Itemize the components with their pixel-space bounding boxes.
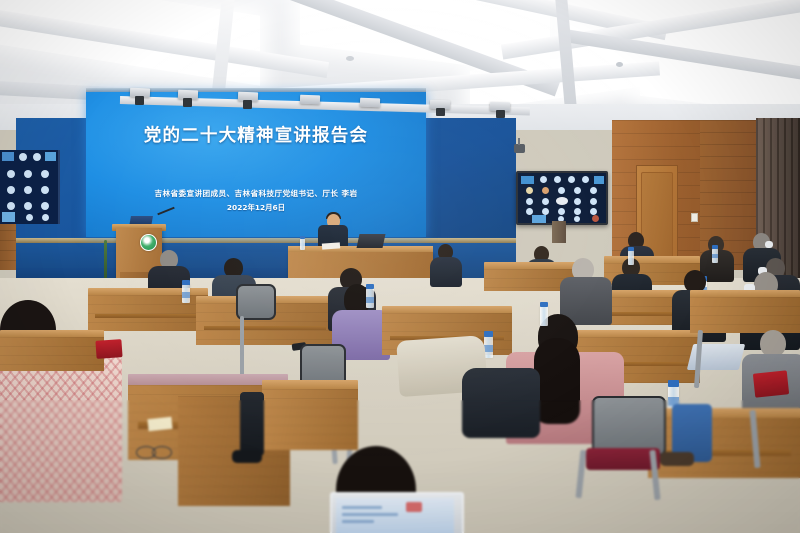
bottle-cap: [712, 245, 718, 249]
spotlight-lens: [496, 110, 505, 118]
spotlight-lens: [135, 96, 144, 105]
desk-shelf: [204, 326, 325, 330]
spotlight: [360, 98, 380, 108]
video-conference-monitor-right[interactable]: [516, 171, 608, 225]
jacket-on-chair: [462, 368, 540, 438]
desk-front: [88, 295, 208, 331]
desk: [0, 330, 104, 374]
participant-tile-active: [2, 212, 15, 222]
bottle-cap: [484, 331, 493, 337]
attendee-legs: [240, 392, 264, 456]
bottle-cap: [300, 236, 305, 239]
attendee-head: [760, 330, 786, 357]
spotlight-lens: [183, 98, 192, 107]
participant-tile-active: [45, 152, 56, 161]
bottle-label: [712, 254, 718, 258]
desk-front: [0, 337, 104, 371]
participant-tile: [542, 208, 549, 215]
bottle-label: [484, 345, 493, 352]
participant-tile: [558, 187, 565, 194]
foreground-laptop-screen: [336, 498, 454, 533]
participant-tile: [26, 214, 33, 221]
participant-tile: [24, 170, 32, 178]
participant-tile: [41, 202, 49, 210]
video-conference-monitor-left[interactable]: [0, 150, 60, 224]
screen-content-line: [342, 513, 398, 516]
red-folder: [95, 339, 122, 359]
ceiling-projector: [514, 144, 525, 153]
participant-tile: [7, 170, 15, 178]
spotlight-lens: [243, 100, 252, 109]
speaker-laptop: [357, 234, 386, 248]
participant-tile: [526, 187, 533, 194]
participant-tile: [568, 176, 575, 183]
participant-tile: [558, 208, 565, 215]
water-bottle: [540, 306, 548, 326]
chair-leg: [240, 316, 244, 382]
attendee-torso: [430, 257, 462, 287]
participant-tile: [7, 186, 15, 194]
speaker-documents: [322, 242, 340, 249]
participant-tile: [574, 198, 581, 205]
slide-title: 党的二十大精神宣讲报告会: [86, 122, 426, 147]
participant-tile: [590, 198, 597, 205]
participant-tile-active: [2, 152, 14, 161]
screen-content-line: [342, 506, 382, 509]
spotlight-lens: [436, 108, 445, 116]
light-switch[interactable]: [691, 213, 698, 222]
screen-accent: [406, 502, 422, 512]
ceiling-sprinkler: [616, 62, 623, 67]
bottle-cap: [540, 302, 548, 307]
participant-tile: [41, 170, 49, 178]
participant-tile: [590, 208, 597, 215]
participant-tile: [24, 202, 32, 210]
participant-tile-active: [521, 176, 534, 184]
participant-tile-active: [594, 176, 604, 184]
podium-emblem-icon: [140, 234, 157, 251]
face-mask: [765, 241, 773, 248]
bottle-cap: [366, 284, 374, 289]
slide-subtitle: 吉林省委宣讲团成员、吉林省科技厅党组书记、厅长 李岩: [86, 188, 426, 199]
eyeglasses: [152, 446, 172, 459]
participant-tile: [41, 186, 49, 194]
participant-tile: [574, 216, 580, 222]
bottle-cap: [182, 280, 190, 285]
desk-front: [690, 297, 800, 333]
water-bottle: [300, 238, 305, 250]
water-bottle: [628, 250, 634, 265]
slide-date: 2022年12月6日: [86, 202, 426, 213]
chair-back[interactable]: [592, 396, 666, 456]
participant-tile-speaking: [556, 197, 568, 205]
bottle-cap: [668, 380, 679, 387]
participant-tile-active: [532, 215, 546, 223]
participant-tile: [526, 208, 533, 215]
notepad: [147, 417, 172, 431]
ceiling-smoke-detector: [346, 56, 354, 61]
attendee-torso: [0, 352, 122, 502]
spotlight: [300, 95, 320, 105]
participant-tile: [582, 176, 589, 183]
projector-mount: [518, 138, 520, 145]
participant-tile: [19, 153, 27, 161]
screen-content-line: [342, 520, 374, 523]
participant-tile: [542, 198, 549, 205]
conference-hall-photo: 党的二十大精神宣讲报告会 吉林省委宣讲团成员、吉林省科技厅党组书记、厅长 李岩 …: [0, 0, 800, 533]
bottle-label: [366, 297, 374, 303]
participant-tile: [554, 176, 561, 183]
desk: [648, 408, 800, 478]
participant-tile: [7, 202, 15, 210]
participant-tile: [574, 208, 581, 215]
desk-front: [648, 418, 800, 478]
participant-tile: [592, 215, 599, 222]
desk-front: [262, 389, 358, 450]
monitor-stand: [552, 221, 566, 243]
desk: [690, 290, 800, 336]
bottle-cap: [628, 247, 634, 251]
participant-tile: [24, 186, 32, 194]
bottle-label: [182, 292, 190, 298]
attendee-hair-long: [534, 338, 580, 424]
participant-tile: [590, 187, 597, 194]
participant-tile: [33, 153, 41, 161]
participant-tile: [540, 176, 547, 183]
participant-tile: [574, 187, 581, 194]
desk: [262, 380, 358, 450]
desk-shelf: [95, 314, 201, 318]
participant-tile: [42, 214, 49, 221]
red-folder: [753, 370, 789, 397]
chair-back[interactable]: [236, 284, 276, 320]
shoe: [660, 452, 694, 466]
shoe: [232, 450, 262, 463]
desk: [88, 288, 208, 334]
participant-tile: [526, 198, 533, 205]
participant-tile: [542, 187, 549, 194]
